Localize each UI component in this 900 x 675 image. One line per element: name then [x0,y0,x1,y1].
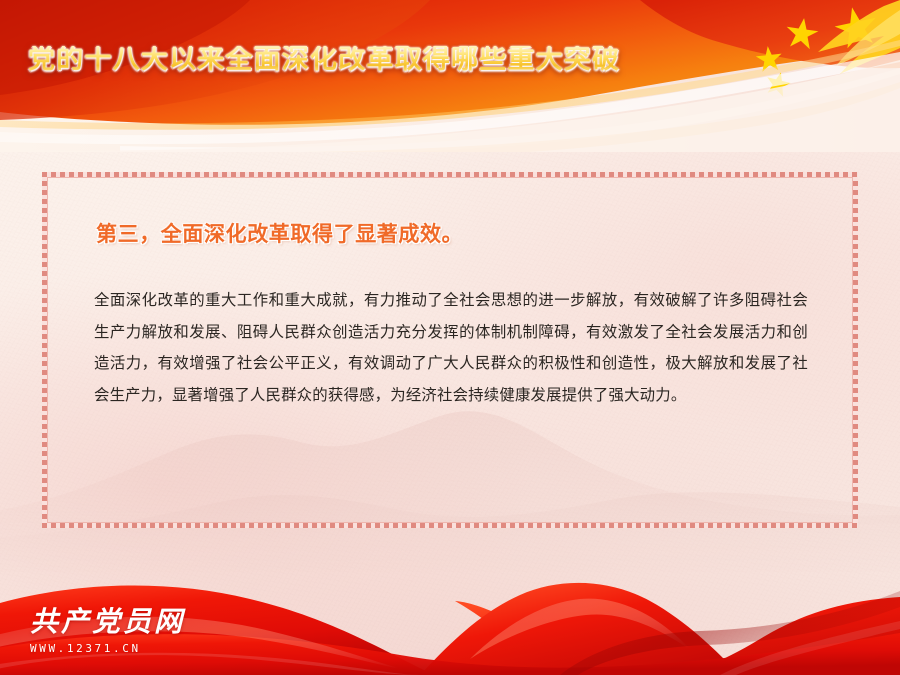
footer-ribbon: 共产党员网 WWW.12371.CN [0,555,900,675]
header-banner: 党的十八大以来全面深化改革取得哪些重大突破 [0,0,900,152]
header-banner-art [0,0,900,152]
body-paragraph: 全面深化改革的重大工作和重大成就，有力推动了全社会思想的进一步解放，有效破解了许… [94,285,808,411]
slide-root: 党的十八大以来全面深化改革取得哪些重大突破 第三，全面深化改革取得了显著成效。 … [0,0,900,675]
content-frame: 第三，全面深化改革取得了显著成效。 全面深化改革的重大工作和重大成就，有力推动了… [42,172,858,528]
footer-ribbon-art [0,555,900,675]
content-frame-inner: 第三，全面深化改革取得了显著成效。 全面深化改革的重大工作和重大成就，有力推动了… [47,177,853,523]
section-heading: 第三，全面深化改革取得了显著成效。 [96,222,808,247]
page-title: 党的十八大以来全面深化改革取得哪些重大突破 [28,46,620,73]
